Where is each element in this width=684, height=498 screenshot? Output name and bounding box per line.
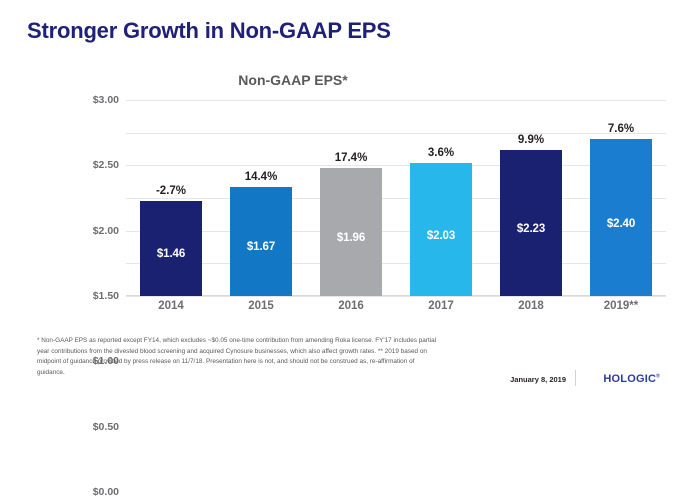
- chart-bar-slot: 14.4%$1.67: [216, 100, 306, 296]
- chart-x-label: 2016: [306, 300, 396, 312]
- chart-y-axis-label: $0.00: [93, 486, 119, 498]
- chart-bar-value-label: $2.03: [427, 230, 455, 242]
- chart-x-label: 2014: [126, 300, 216, 312]
- chart-bars: -2.7%$1.4614.4%$1.6717.4%$1.963.6%$2.039…: [126, 100, 666, 296]
- footnote-text: * Non-GAAP EPS as reported except FY14, …: [37, 336, 441, 378]
- chart-x-label: 2018: [486, 300, 576, 312]
- chart-bar-slot: 3.6%$2.03: [396, 100, 486, 296]
- chart-y-axis-label: $3.00: [93, 94, 119, 106]
- chart-gridline: $0.00: [126, 296, 666, 297]
- footer-date: January 8, 2019: [510, 375, 566, 384]
- chart-bar-slot: 7.6%$2.40: [576, 100, 666, 296]
- slide-canvas: Stronger Growth in Non-GAAP EPS Non-GAAP…: [0, 0, 684, 407]
- chart-growth-label: 14.4%: [245, 171, 278, 183]
- chart-bar-slot: 9.9%$2.23: [486, 100, 576, 296]
- chart-bar-slot: -2.7%$1.46: [126, 100, 216, 296]
- chart-growth-label: 9.9%: [518, 134, 544, 146]
- chart-bar-value-label: $2.40: [607, 218, 635, 230]
- chart-title: Non-GAAP EPS*: [78, 72, 508, 88]
- chart-bar-slot: 17.4%$1.96: [306, 100, 396, 296]
- hologic-logo: HOLOGIC®: [603, 373, 660, 385]
- chart-growth-label: 17.4%: [335, 152, 368, 164]
- chart-bar-value-label: $1.67: [247, 241, 275, 253]
- chart-plot-area: $3.00$2.50$2.00$1.50$1.00$0.50$0.00 -2.7…: [126, 100, 666, 296]
- chart-y-axis-label: $0.50: [93, 421, 119, 433]
- chart-bar[interactable]: 9.9%$2.23: [500, 150, 562, 296]
- chart-bar-value-label: $2.23: [517, 223, 545, 235]
- chart-bar[interactable]: 7.6%$2.40: [590, 139, 652, 296]
- page-title: Stronger Growth in Non-GAAP EPS: [27, 18, 391, 44]
- chart-growth-label: -2.7%: [156, 185, 186, 197]
- chart-bar[interactable]: -2.7%$1.46: [140, 201, 202, 296]
- chart-bar[interactable]: 17.4%$1.96: [320, 168, 382, 296]
- chart-container: Non-GAAP EPS* $3.00$2.50$2.00$1.50$1.00$…: [78, 68, 678, 323]
- chart-bar-value-label: $1.96: [337, 232, 365, 244]
- chart-y-axis-label: $1.50: [93, 290, 119, 302]
- chart-growth-label: 3.6%: [428, 147, 454, 159]
- chart-bar[interactable]: 14.4%$1.67: [230, 187, 292, 296]
- logo-text: HOLOGIC: [603, 373, 656, 385]
- chart-growth-label: 7.6%: [608, 123, 634, 135]
- chart-x-label: 2017: [396, 300, 486, 312]
- chart-x-axis-labels: 201420152016201720182019**: [126, 300, 666, 312]
- chart-y-axis-label: $2.00: [93, 225, 119, 237]
- chart-x-label: 2019**: [576, 300, 666, 312]
- footer-divider: [575, 370, 576, 386]
- chart-y-axis-label: $2.50: [93, 159, 119, 171]
- chart-bar-value-label: $1.46: [157, 248, 185, 260]
- chart-bar[interactable]: 3.6%$2.03: [410, 163, 472, 296]
- chart-x-label: 2015: [216, 300, 306, 312]
